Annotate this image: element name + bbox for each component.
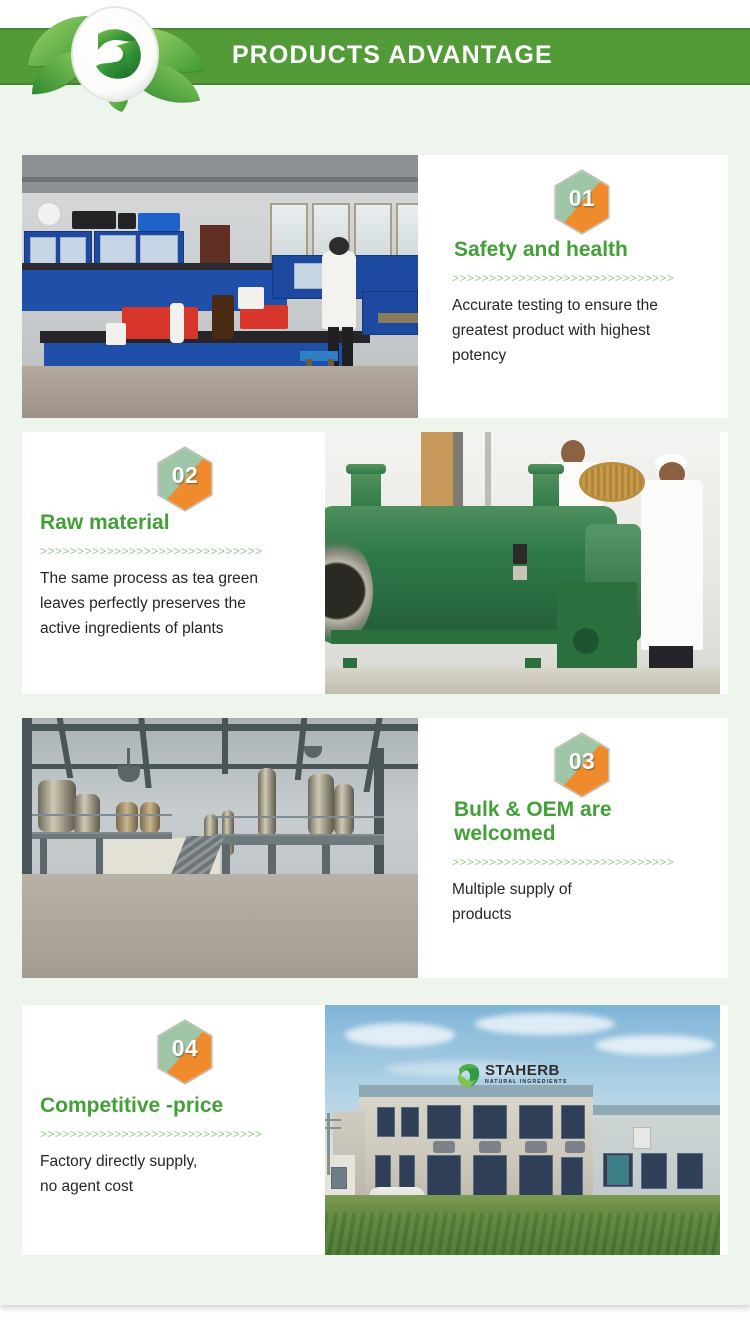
feature-panel-1: 01 Safety and health >>>>>>>>>>>>>>>>>>>… xyxy=(422,155,728,418)
staherb-leaf-logo-icon xyxy=(18,0,228,112)
photo-laboratory xyxy=(22,155,418,418)
feature-title-2: Raw material xyxy=(40,510,312,535)
chevron-divider-4: >>>>>>>>>>>>>>>>>>>>>>>>>>>>>> xyxy=(40,1127,290,1141)
feature-row-4: 04 Competitive -price >>>>>>>>>>>>>>>>>>… xyxy=(22,1005,728,1255)
badge-wrap-4: 04 xyxy=(40,1005,312,1093)
feature-row-2: 02 Raw material >>>>>>>>>>>>>>>>>>>>>>>>… xyxy=(22,432,728,694)
hexagon-badge-icon-1: 01 xyxy=(553,169,611,235)
feature-title-3: Bulk & OEM are welcomed xyxy=(454,798,704,846)
hexagon-badge-icon-4: 04 xyxy=(156,1019,214,1085)
feature-panel-3: 03 Bulk & OEM are welcomed >>>>>>>>>>>>>… xyxy=(422,718,728,978)
feature-row-3: 03 Bulk & OEM are welcomed >>>>>>>>>>>>>… xyxy=(22,718,728,978)
photo-extraction-plant xyxy=(22,718,418,978)
building-sign-subtitle: NATURAL INGREDIENTS xyxy=(485,1080,567,1085)
photo-factory-building: STAHERB NATURAL INGREDIENTS xyxy=(325,1005,720,1255)
hexagon-badge-icon-3: 03 xyxy=(553,732,611,798)
feature-title-1: Safety and health xyxy=(454,237,704,262)
building-logo-icon xyxy=(455,1059,483,1089)
photo-roasting-machine xyxy=(325,432,720,694)
feature-panel-4: 04 Competitive -price >>>>>>>>>>>>>>>>>>… xyxy=(22,1005,332,1255)
building-sign-name: STAHERB xyxy=(485,1063,567,1078)
product-advantage-page: PRODUCTS ADVANTAGE xyxy=(0,0,750,1326)
chevron-divider-1: >>>>>>>>>>>>>>>>>>>>>>>>>>>>>> xyxy=(452,271,702,285)
hexagon-badge-icon-2: 02 xyxy=(156,446,214,512)
feature-row-1: 01 Safety and health >>>>>>>>>>>>>>>>>>>… xyxy=(22,155,728,418)
badge-wrap-1: 01 xyxy=(452,155,704,237)
feature-panel-2: 02 Raw material >>>>>>>>>>>>>>>>>>>>>>>>… xyxy=(22,432,332,694)
feature-title-4: Competitive -price xyxy=(40,1093,312,1118)
page-title: PRODUCTS ADVANTAGE xyxy=(232,41,553,70)
page-header: PRODUCTS ADVANTAGE xyxy=(0,0,750,118)
feature-description-1: Accurate testing to ensure the greatest … xyxy=(452,293,704,368)
feature-description-3: Multiple supply of products xyxy=(452,877,704,927)
chevron-divider-3: >>>>>>>>>>>>>>>>>>>>>>>>>>>>>> xyxy=(452,855,702,869)
badge-wrap-2: 02 xyxy=(40,432,312,510)
feature-description-2: The same process as tea green leaves per… xyxy=(40,566,312,641)
badge-wrap-3: 03 xyxy=(452,718,704,798)
feature-description-4: Factory directly supply, no agent cost xyxy=(40,1149,312,1199)
chevron-divider-2: >>>>>>>>>>>>>>>>>>>>>>>>>>>>>> xyxy=(40,544,290,558)
